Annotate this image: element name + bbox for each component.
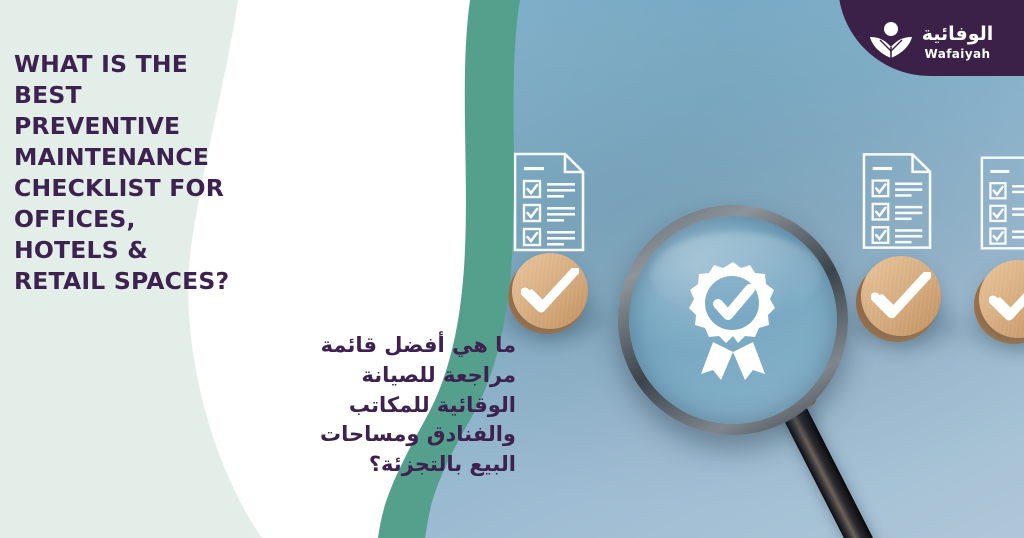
- poster-canvas: What is the best preventive maintenance …: [0, 0, 1024, 538]
- logo-wordmark: الوفائية Wafaiyah: [922, 25, 994, 60]
- person-wings-icon: [869, 20, 913, 64]
- page-title-arabic: ما هي أفضل قائمة مراجعة للصيانة الوقائية…: [306, 331, 516, 480]
- page-title-english: What is the best preventive maintenance …: [14, 49, 244, 297]
- logo-name-arabic: الوفائية: [922, 25, 994, 44]
- logo-name-english: Wafaiyah: [924, 48, 990, 60]
- logo-inner: الوفائية Wafaiyah: [869, 20, 994, 64]
